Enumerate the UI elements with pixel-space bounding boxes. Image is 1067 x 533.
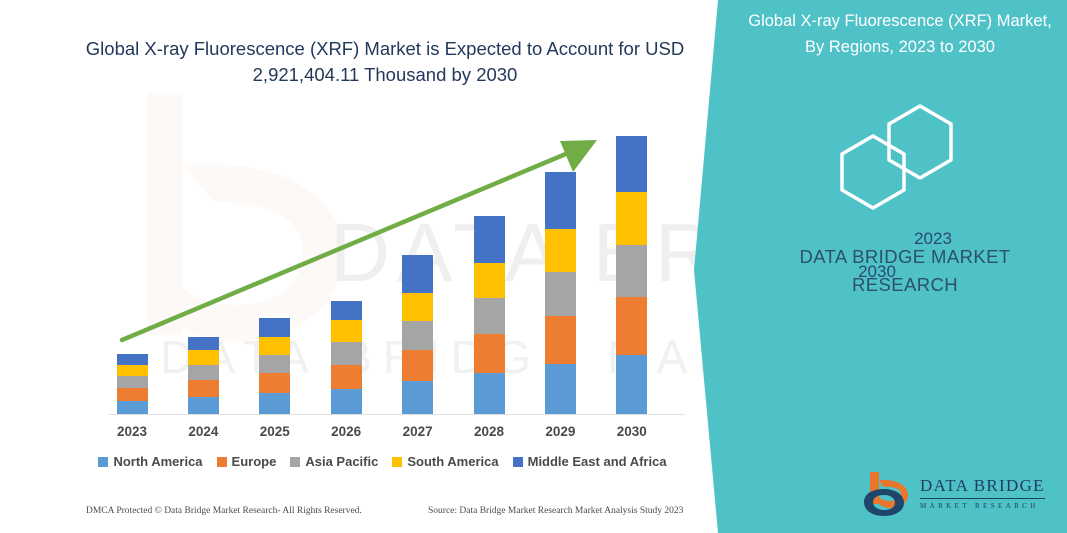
stacked-bar: [259, 318, 290, 414]
bar-segment: [545, 172, 576, 229]
bar-segment: [402, 350, 433, 381]
bar-segment: [402, 293, 433, 321]
stacked-bar: [188, 337, 219, 414]
stacked-bar: [616, 136, 647, 414]
bar-segment: [188, 350, 219, 365]
bar-segment: [402, 321, 433, 350]
bar-segment: [616, 136, 647, 192]
footer: DMCA Protected © Data Bridge Market Rese…: [0, 506, 710, 528]
bar-segment: [474, 216, 505, 263]
panel-title: Global X-ray Fluorescence (XRF) Market, …: [745, 8, 1055, 60]
bar-segment: [188, 397, 219, 414]
legend-label: North America: [113, 454, 202, 469]
db-logo: DATA BRIDGE MARKET RESEARCH: [862, 470, 1052, 520]
bar-segment: [474, 263, 505, 298]
bar-segment: [259, 337, 290, 355]
stacked-bar: [474, 216, 505, 414]
legend-item[interactable]: South America: [392, 454, 498, 469]
bar-segment: [545, 316, 576, 364]
legend-label: Middle East and Africa: [528, 454, 667, 469]
legend-swatch-icon: [217, 457, 227, 467]
x-axis-label-2024: 2024: [173, 424, 233, 439]
legend-swatch-icon: [98, 457, 108, 467]
panel-brand-line-1: DATA BRIDGE MARKET: [760, 243, 1050, 271]
bar-segment: [117, 365, 148, 376]
db-logo-text: DATA BRIDGE MARKET RESEARCH: [920, 476, 1045, 510]
x-axis-label-2026: 2026: [316, 424, 376, 439]
footer-copyright: DMCA Protected © Data Bridge Market Rese…: [86, 506, 362, 516]
bar-segment: [331, 320, 362, 342]
panel-brand: DATA BRIDGE MARKET RESEARCH: [760, 243, 1050, 299]
year-hexagons: 2023 2030: [820, 100, 1000, 210]
bar-segment: [259, 318, 290, 337]
x-axis-label-2023: 2023: [102, 424, 162, 439]
x-axis-label-2025: 2025: [245, 424, 305, 439]
db-logo-title: DATA BRIDGE: [920, 476, 1045, 499]
panel-brand-line-2: RESEARCH: [760, 271, 1050, 299]
bar-segment: [117, 401, 148, 414]
legend-item[interactable]: Middle East and Africa: [513, 454, 667, 469]
bar-segment: [259, 355, 290, 373]
legend-swatch-icon: [392, 457, 402, 467]
x-axis-label-2030: 2030: [602, 424, 662, 439]
legend-item[interactable]: Europe: [217, 454, 277, 469]
bar-segment: [259, 393, 290, 414]
legend-label: Europe: [232, 454, 277, 469]
legend-swatch-icon: [290, 457, 300, 467]
bar-segment: [117, 388, 148, 401]
bar-segment: [474, 334, 505, 373]
footer-source: Source: Data Bridge Market Research Mark…: [428, 506, 683, 516]
bar-segment: [331, 389, 362, 414]
db-logo-mark-icon: [862, 470, 918, 518]
legend-label: South America: [407, 454, 498, 469]
stacked-bar: [331, 301, 362, 414]
bar-segment: [616, 297, 647, 355]
bar-segment: [331, 342, 362, 365]
bar-segment: [474, 298, 505, 334]
bar-segment: [474, 373, 505, 414]
stacked-bar: [117, 354, 148, 414]
bar-segment: [188, 365, 219, 380]
bar-segment: [616, 355, 647, 414]
infographic-canvas: DATA BRIDGE DATA BRIDGE MARKET RESEARCH …: [0, 0, 1067, 533]
legend-label: Asia Pacific: [305, 454, 378, 469]
bar-segment: [545, 272, 576, 316]
bar-segment: [259, 373, 290, 393]
x-axis-label-2027: 2027: [388, 424, 448, 439]
bar-segment: [545, 364, 576, 414]
bar-segment: [117, 376, 148, 388]
legend-item[interactable]: Asia Pacific: [290, 454, 378, 469]
hexagon-outlines: [820, 100, 1000, 210]
x-axis-labels: 20232024202520262027202820292030: [60, 424, 700, 444]
legend-swatch-icon: [513, 457, 523, 467]
bar-segment: [545, 229, 576, 272]
bar-segment: [616, 192, 647, 245]
stacked-bar-series: [60, 100, 700, 415]
bar-segment: [188, 380, 219, 397]
bar-segment: [402, 255, 433, 293]
bar-segment: [117, 354, 148, 365]
chart-legend: North AmericaEuropeAsia PacificSouth Ame…: [60, 454, 705, 469]
x-axis-label-2029: 2029: [530, 424, 590, 439]
bar-segment: [402, 381, 433, 414]
bar-segment: [331, 365, 362, 389]
legend-item[interactable]: North America: [98, 454, 202, 469]
bar-segment: [188, 337, 219, 350]
x-axis-label-2028: 2028: [459, 424, 519, 439]
stacked-bar: [402, 255, 433, 414]
bar-segment: [616, 245, 647, 297]
chart-plot-area: [60, 100, 700, 420]
bar-segment: [331, 301, 362, 320]
db-logo-subtitle: MARKET RESEARCH: [920, 502, 1045, 510]
stacked-bar: [545, 172, 576, 414]
chart-title: Global X-ray Fluorescence (XRF) Market i…: [60, 36, 710, 88]
